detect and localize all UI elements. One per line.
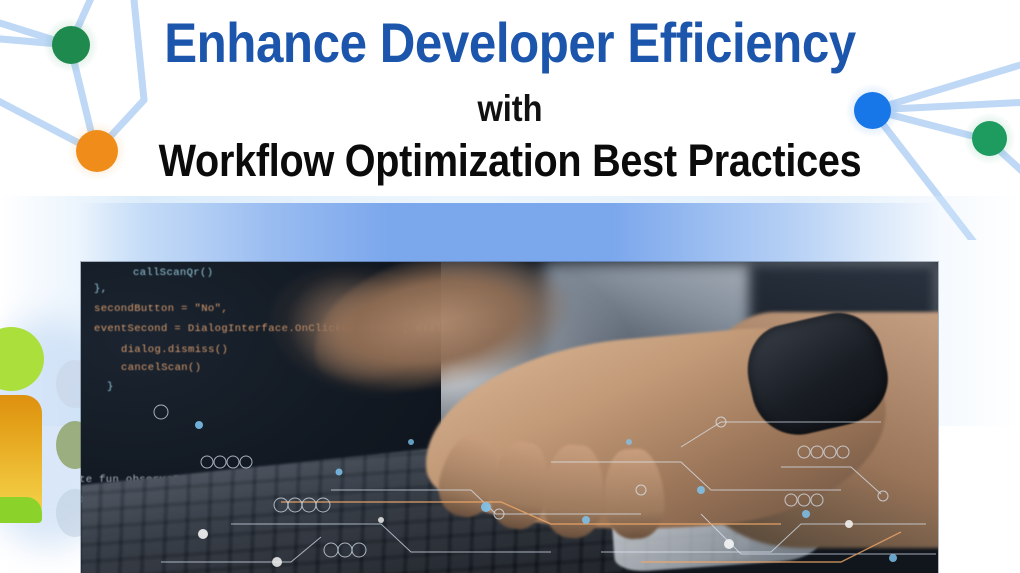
code-line: dialog.dismiss() xyxy=(121,344,228,356)
code-line: } xyxy=(107,381,114,393)
code-line: secondButton = "No", xyxy=(94,303,228,315)
poster-canvas: Enhance Developer Efficiency with Workfl… xyxy=(0,0,1020,573)
green-cap-bottom-shape xyxy=(0,497,42,523)
headline-block: Enhance Developer Efficiency with Workfl… xyxy=(0,0,1020,183)
hero-photo: callScanQr() }, secondButton = "No", eve… xyxy=(81,262,938,573)
page-subtitle: Workflow Optimization Best Practices xyxy=(61,127,959,183)
code-line: }, xyxy=(94,283,107,295)
blue-gradient-band xyxy=(78,203,940,262)
headline-connector: with xyxy=(61,71,959,127)
code-line: cancelScan() xyxy=(121,362,201,374)
page-title: Enhance Developer Efficiency xyxy=(61,0,959,71)
photo-content: callScanQr() }, secondButton = "No", eve… xyxy=(81,262,938,573)
code-line: callScanQr() xyxy=(133,267,213,279)
